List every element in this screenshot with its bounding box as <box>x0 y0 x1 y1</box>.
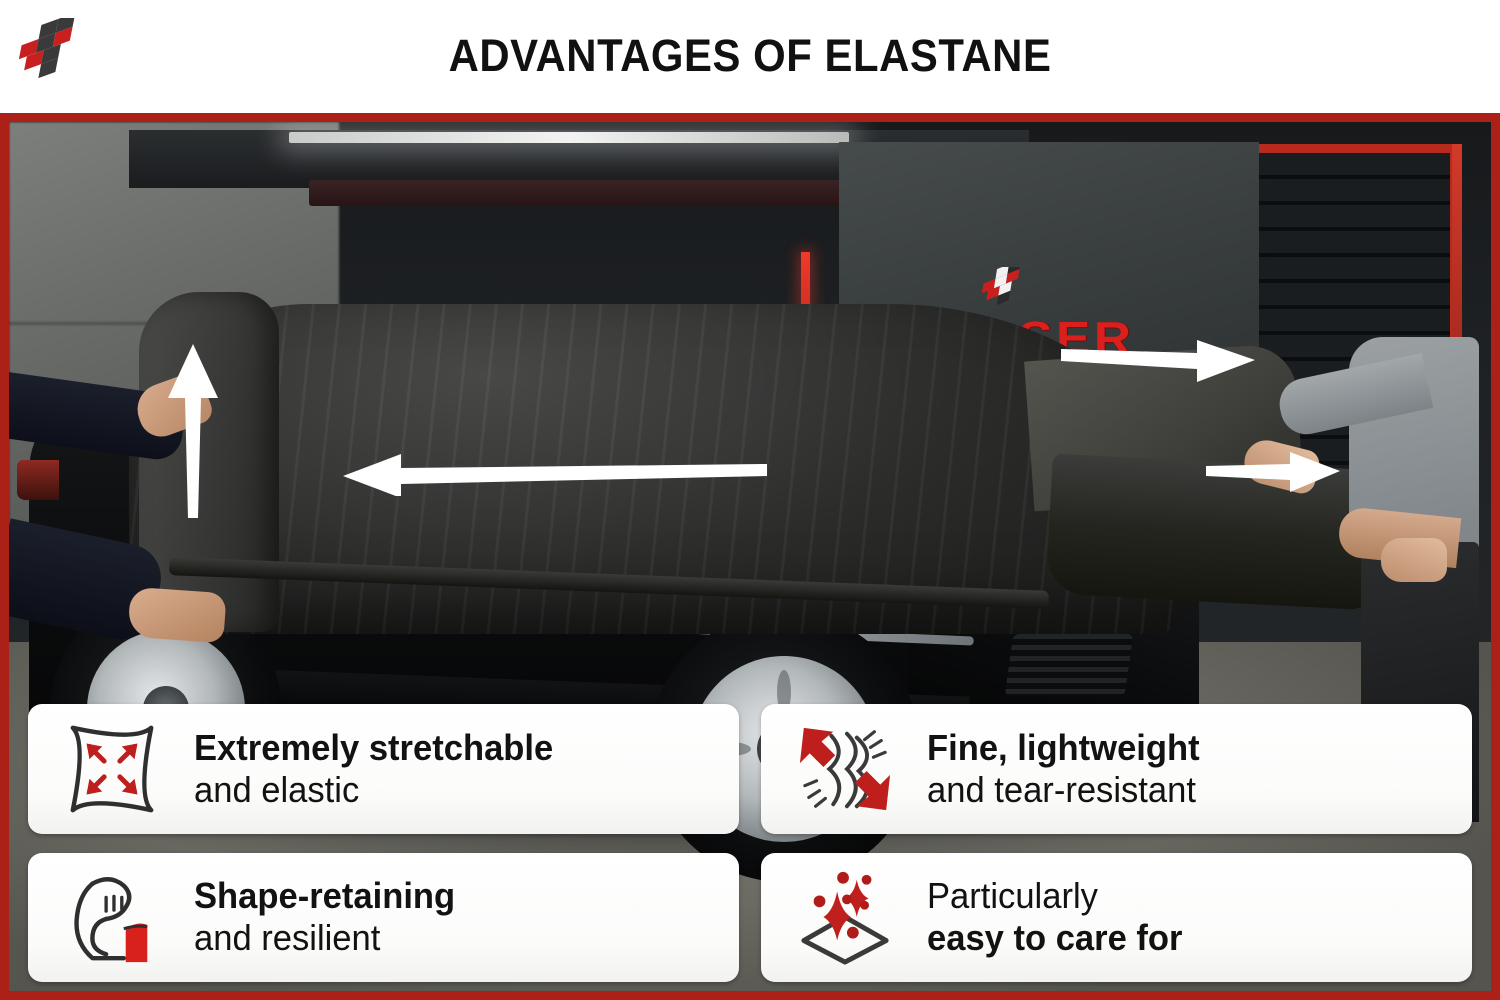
arrow-left-icon <box>339 452 769 496</box>
checkered-flag-icon <box>975 267 1053 313</box>
arrow-right-icon <box>1059 340 1259 382</box>
feature-card-stretchable[interactable]: Extremely stretchable and elastic <box>28 704 739 834</box>
feature-subline: and elastic <box>194 769 553 811</box>
page-header: ADVANTAGES OF ELASTANE <box>0 0 1500 113</box>
feature-card-text: Extremely stretchable and elastic <box>194 727 568 811</box>
arrow-right-icon <box>1204 452 1344 492</box>
feature-subline: easy to care for <box>927 917 1182 959</box>
feature-subline: and tear-resistant <box>927 769 1200 811</box>
feature-card-text: Fine, lightweight and tear-resistant <box>927 727 1211 811</box>
feature-headline: Extremely stretchable <box>194 727 553 769</box>
taillight <box>17 460 59 500</box>
page-title: ADVANTAGES OF ELASTANE <box>53 0 1448 113</box>
flexed-bicep-icon <box>56 865 168 969</box>
feature-headline: Fine, lightweight <box>927 727 1200 769</box>
right-person-lower-hand <box>1381 538 1447 582</box>
sparkle-diamond-icon <box>789 865 901 969</box>
front-grille <box>1005 634 1134 696</box>
feature-card-text: Particularly easy to care for <box>927 875 1193 959</box>
feature-card-lightweight[interactable]: Fine, lightweight and tear-resistant <box>761 704 1472 834</box>
feature-card-text: Shape-retaining and resilient <box>194 875 466 959</box>
feature-card-grid: Extremely stretchable and elastic <box>28 704 1472 982</box>
arrow-up-icon <box>164 340 222 520</box>
tear-resistant-fabric-icon <box>789 717 901 821</box>
feature-headline: Shape-retaining <box>194 875 455 917</box>
left-person-lower-hand <box>127 587 226 644</box>
feature-subline: and resilient <box>194 917 455 959</box>
feature-card-easy-care[interactable]: Particularly easy to care for <box>761 853 1472 983</box>
feature-headline: Particularly <box>927 875 1182 917</box>
hero-photo-frame: WALSER ONLY THE BEST FOR YOUR CAR <box>0 113 1500 1000</box>
feature-card-shape-retaining[interactable]: Shape-retaining and resilient <box>28 853 739 983</box>
strip-light-icon <box>289 132 849 143</box>
stretch-square-arrows-icon <box>56 717 168 821</box>
